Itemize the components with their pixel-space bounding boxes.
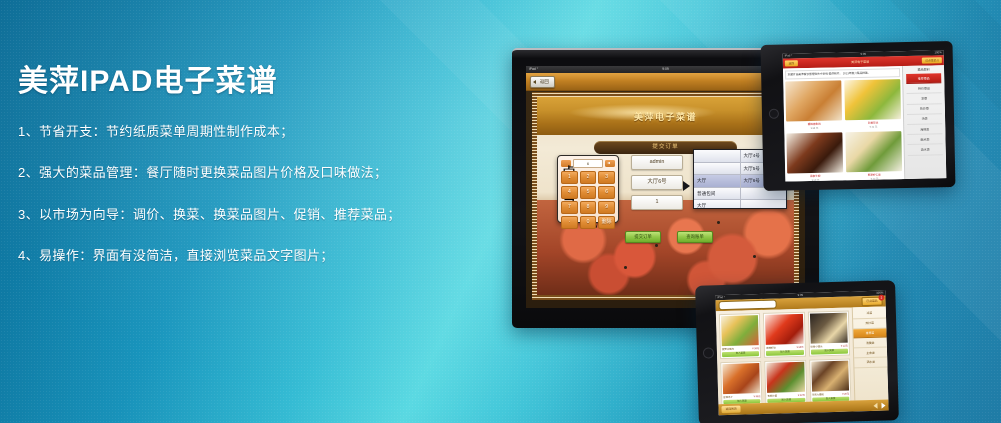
dish-card[interactable]: 彩椒双丝￥32 元 [844,79,901,129]
home-link-button[interactable]: 返回首页 [721,406,740,413]
category-sidebar[interactable]: 菜品类别 推荐菜品特价菜品凉菜热炒菜汤类海鲜类面点类酒水类 [902,65,946,179]
username-field[interactable]: admin [631,155,683,170]
category-sidebar-title: 菜品类别 [906,67,941,72]
dish-price: ￥26元 [842,391,850,395]
dish-grid[interactable]: 香辣烤鱼排￥88 元彩椒双丝￥32 元黑椒牛柳￥68 元翡翠虾仁面￥42 元 [785,79,902,181]
keypad-key[interactable]: 0 [580,216,597,229]
home-button-icon[interactable] [769,109,779,119]
app-title: 美萍电子菜谱 [798,59,923,66]
dish-price: ￥38元 [752,346,760,350]
dish-name: 菠萝咕咾肉 [722,347,734,351]
action-buttons: 提交订单 查询账单 [625,231,713,243]
dish-card[interactable]: 巧克力蛋糕￥26元加入菜篮 [809,358,852,404]
dish-name: 奶香小馒头 [810,344,822,348]
dish-image [810,313,848,344]
backspace-icon[interactable] [605,160,615,167]
keypad-key[interactable]: · [561,216,578,229]
dish-card[interactable]: 菠萝咕咾肉￥38元加入菜篮 [719,313,762,359]
login-fields: admin 大厅6号 1 [631,155,683,215]
dish-name: 香辣虾球 [766,346,776,350]
keypad-key[interactable]: 3 [598,171,615,184]
app-title: 美萍电子菜谱 [537,110,794,123]
category-item[interactable]: 特价菜品 [906,83,941,94]
dish-card[interactable]: 翡翠虾仁面￥42 元 [845,131,902,181]
table-field[interactable]: 大厅6号 [631,175,683,190]
dish-price: ￥42 元 [846,176,902,181]
keypad-key[interactable]: 2 [580,171,597,184]
tablet-device-top-right: iPad ᵀ 9:09 100% 返回 美萍电子菜谱 已点菜品 0 本图片由美萍… [760,41,955,191]
keypad-key[interactable]: 删除 [598,216,615,229]
feature-bullet: 2、强大的菜品管理：餐厅随时更换菜品图片价格及口味做法； [18,165,448,181]
keypad-key[interactable]: 9 [598,201,615,214]
feature-bullet: 1、节省开支：节约纸质菜单周期性制作成本； [18,124,448,140]
dish-image [721,315,759,346]
ordered-items-label: 已点菜品 [866,299,877,303]
dish-grid[interactable]: 菠萝咕咾肉￥38元加入菜篮香辣虾球￥58元加入菜篮奶香小馒头￥12元加入菜篮宫保… [716,307,855,404]
category-item[interactable]: 推荐菜品 [906,73,941,84]
dish-image [844,79,901,120]
keypad-key[interactable]: 5 [580,186,597,199]
table-name-cell [741,200,787,209]
pointer-arrow-icon [683,181,690,191]
dish-card[interactable]: 香辣虾球￥58元加入菜篮 [763,312,806,358]
dish-meta: 宫保鸡丁￥36元 [723,394,760,399]
dish-card[interactable]: 奶香小馒头￥12元加入菜篮 [808,311,851,357]
category-item[interactable]: 凉菜 [907,94,942,105]
category-item[interactable]: 酒水类 [854,357,887,368]
table-area-cell: 大厅 [694,200,741,209]
dish-image [786,132,843,173]
dish-meta: 青椒炒蛋￥22元 [767,392,804,397]
dish-image [722,363,760,394]
dish-card[interactable]: 青椒炒蛋￥22元加入菜篮 [765,359,808,405]
home-button-icon[interactable] [703,347,714,358]
diagonal-band [980,0,1001,147]
promo-banner: 美萍IPAD电子菜谱 1、节省开支：节约纸质菜单周期性制作成本； 2、强大的菜品… [0,0,1001,423]
keypad-key[interactable]: 1 [561,171,578,184]
tablet-bottom-right-screen: iPad ᵀ 9:09 100% 已点菜品 3 菠萝咕咾肉￥38元加入菜篮香辣虾… [715,291,888,416]
dish-card[interactable]: 香辣烤鱼排￥88 元 [785,80,842,130]
category-list[interactable]: 推荐菜品特价菜品凉菜热炒菜汤类海鲜类面点类酒水类 [906,73,943,155]
dish-price: ￥32 元 [845,124,901,129]
feature-bullet: 4、易操作：界面有没简洁，直接浏览菜品文字图片； [18,248,448,264]
category-sidebar[interactable]: 凉菜热炒菜推荐菜汤羹类主食类酒水类 [852,307,889,401]
table-area-cell: 普通包间 [694,188,741,200]
dish-grid-area: 本图片由美萍餐饮管理软件中系统 提供照片。 2013年推介菜品特惠。 香辣烤鱼排… [783,66,904,181]
dish-card[interactable]: 黑椒牛柳￥68 元 [786,132,843,181]
dish-price: ￥88 元 [786,125,842,130]
numeric-keypad-panel[interactable]: 桌号 6 123456789·0删除 [557,155,619,223]
dish-meta: 巧克力蛋糕￥26元 [812,391,849,396]
query-bill-button[interactable]: 查询账单 [677,231,713,243]
promo-notice: 本图片由美萍餐饮管理软件中系统 提供照片。 2013年推介菜品特惠。 [785,68,900,79]
guest-count-field[interactable]: 1 [631,195,683,210]
ordered-items-button[interactable]: 已点菜品 0 [922,57,942,64]
next-arrow-icon[interactable] [881,402,885,408]
dish-card[interactable]: 宫保鸡丁￥36元加入菜篮 [720,360,763,406]
back-button[interactable]: 返回 [785,60,798,67]
table-area-cell: 大厅 [694,175,741,187]
dish-price: ￥36元 [753,394,761,398]
dish-price: ￥58元 [796,345,804,349]
greek-key-frame: 美萍电子菜谱 提交订单 [532,92,799,300]
table-area-cell [694,163,741,175]
ordered-items-button[interactable]: 已点菜品 3 [861,297,882,307]
dish-price: ￥68 元 [787,177,843,181]
category-item[interactable]: 热炒菜 [907,104,942,115]
back-button[interactable]: 返回 [530,76,555,88]
add-to-cart-button[interactable]: 加入菜篮 [722,351,759,357]
dish-name: 巧克力蛋糕 [812,392,824,396]
keypad-field-label: 桌号 [561,160,571,167]
tablet-device-bottom-right: iPad ᵀ 9:09 100% 已点菜品 3 菠萝咕咾肉￥38元加入菜篮香辣虾… [695,280,899,423]
category-item[interactable]: 酒水类 [908,145,943,156]
dish-image [785,80,842,121]
dish-image [765,314,803,345]
page-title: 美萍IPAD电子菜谱 [18,66,448,98]
table-area-cell [694,150,741,162]
order-count-badge: 3 [878,295,884,301]
dish-price: ￥12元 [840,344,848,348]
submit-order-button[interactable]: 提交订单 [625,231,661,243]
dish-price: ￥22元 [797,392,805,396]
dish-name: 青椒炒蛋 [767,393,777,397]
marketing-copy: 美萍IPAD电子菜谱 1、节省开支：节约纸质菜单周期性制作成本； 2、强大的菜品… [18,66,448,264]
table-row[interactable]: 大厅 [694,200,786,209]
add-to-cart-button[interactable]: 加入菜篮 [811,349,848,355]
keypad-key[interactable]: 7 [561,201,578,214]
keypad-key[interactable]: 4 [561,186,578,199]
dish-image [811,360,849,391]
category-item[interactable]: 汤类 [907,114,942,125]
add-to-cart-button[interactable]: 加入菜篮 [766,350,803,356]
prev-arrow-icon[interactable] [873,402,877,408]
tablet-top-right-screen: iPad ᵀ 9:09 100% 返回 美萍电子菜谱 已点菜品 0 本图片由美萍… [783,50,947,181]
keypad-input[interactable]: 6 [573,159,603,168]
dish-image [845,131,902,172]
keypad-key[interactable]: 8 [580,201,597,214]
search-input[interactable] [719,300,777,310]
dish-name: 宫保鸡丁 [723,394,733,398]
keypad-key[interactable]: 6 [598,186,615,199]
feature-bullet: 3、以市场为向导：调价、换菜、换菜品图片、促销、推荐菜品； [18,207,448,223]
dish-image [767,361,805,392]
